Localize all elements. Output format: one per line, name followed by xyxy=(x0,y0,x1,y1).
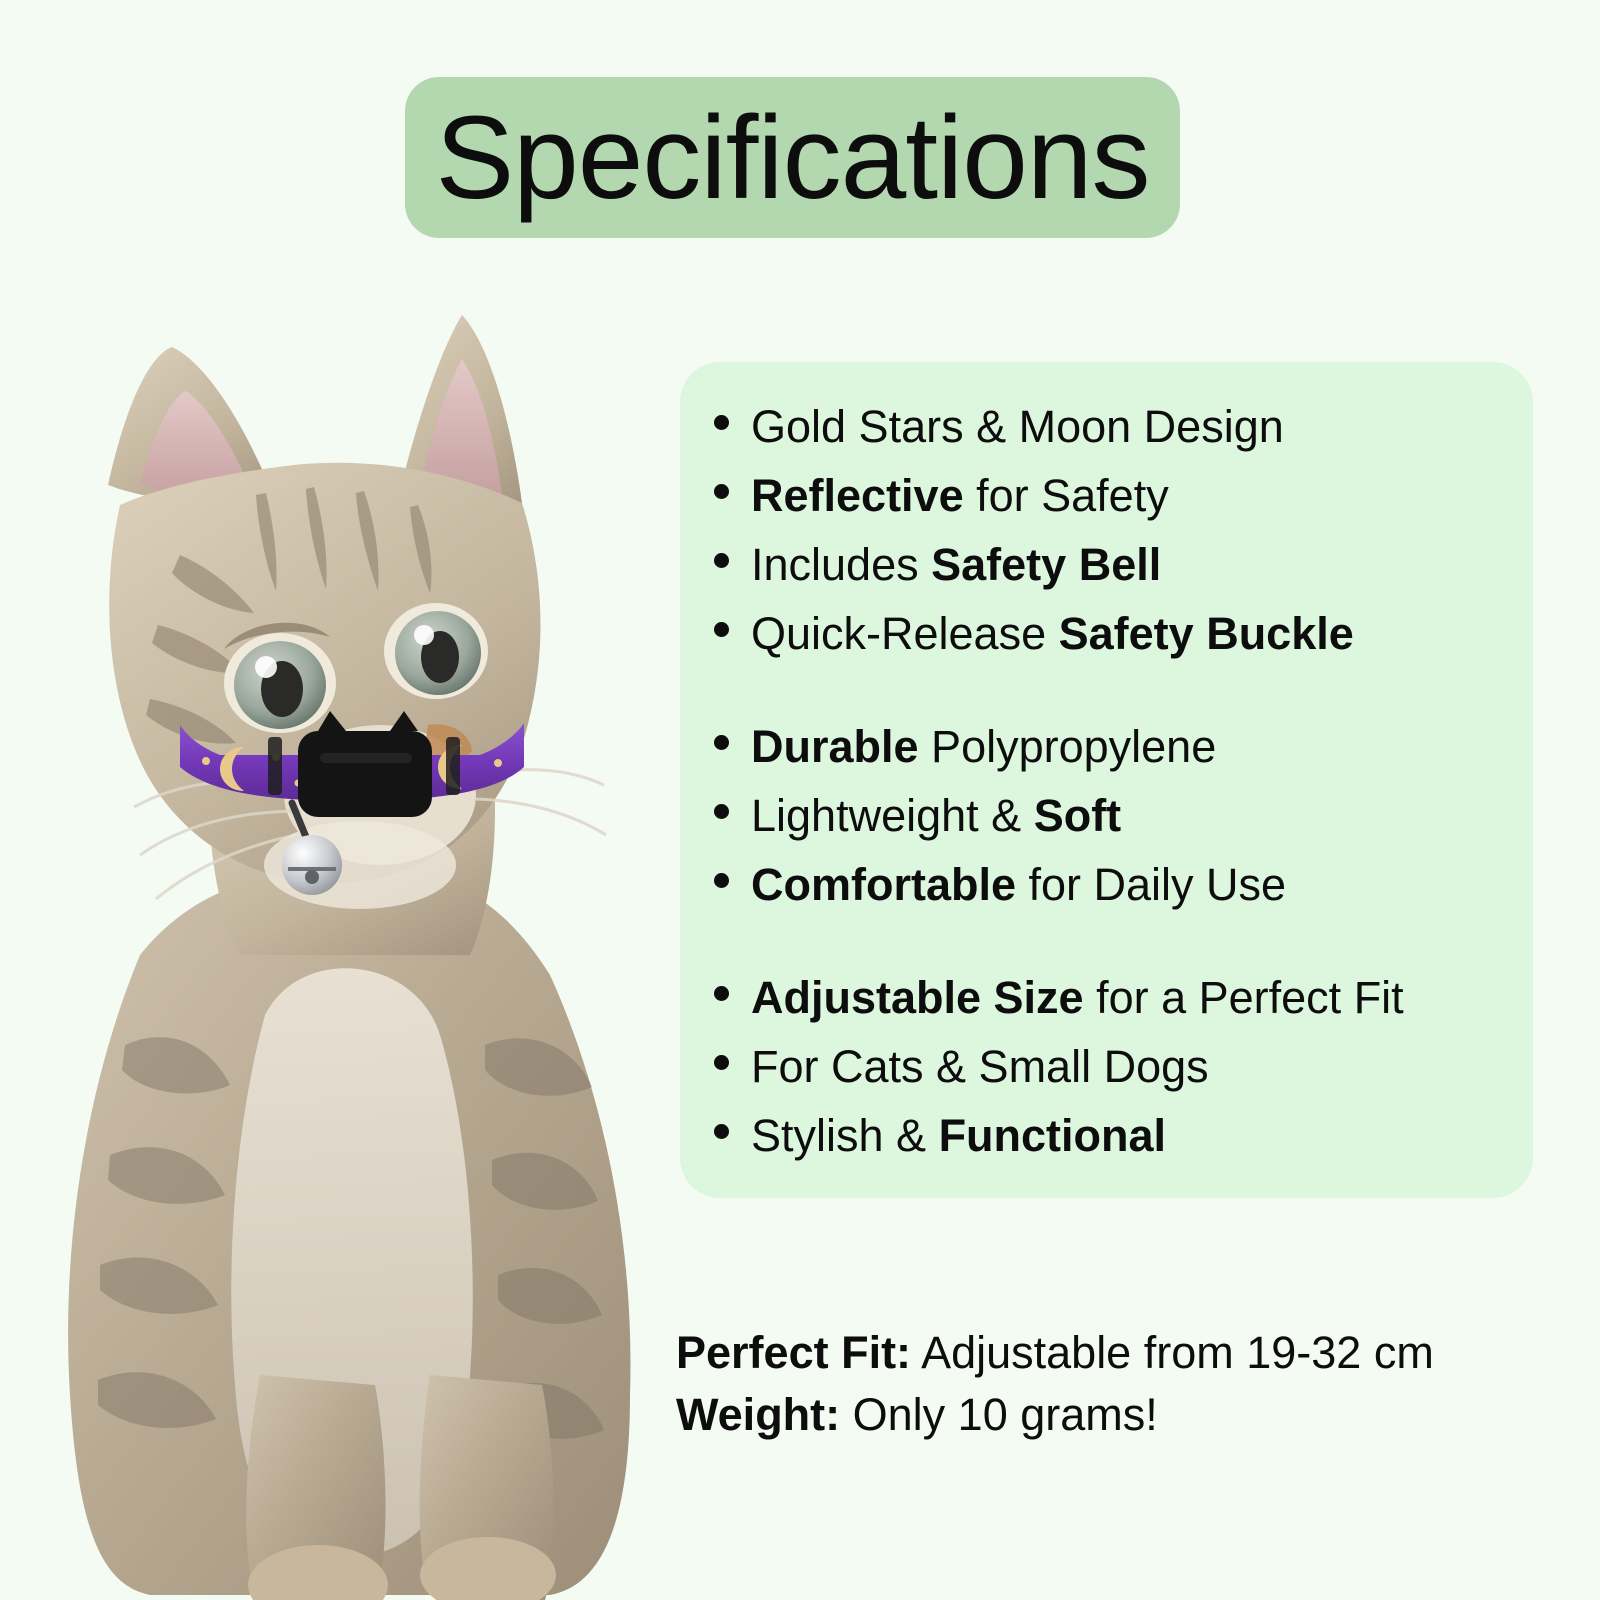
spec-text: Durable Polypropylene xyxy=(751,712,1216,781)
spec-text: Reflective for Safety xyxy=(751,461,1169,530)
cat-eye-right-highlight xyxy=(414,625,434,645)
spec-bullet-item: Comfortable for Daily Use xyxy=(714,850,1505,919)
bullet-dot-icon xyxy=(714,1055,729,1070)
emphasis-text: Safety Bell xyxy=(931,539,1161,590)
spec-bullet-item: Durable Polypropylene xyxy=(714,712,1505,781)
emphasis-text: Weight: xyxy=(676,1389,840,1440)
page-title: Specifications xyxy=(435,99,1149,217)
bullet-dot-icon xyxy=(714,415,729,430)
specifications-card: Gold Stars & Moon DesignReflective for S… xyxy=(680,362,1533,1198)
spec-text: Quick-Release Safety Buckle xyxy=(751,599,1354,668)
bullet-dot-icon xyxy=(714,1124,729,1139)
collar-star-6 xyxy=(494,759,502,767)
bullet-dot-icon xyxy=(714,804,729,819)
emphasis-text: Reflective xyxy=(751,470,964,521)
emphasis-text: Soft xyxy=(1034,790,1121,841)
bell-hole xyxy=(305,870,319,884)
spec-text: Perfect Fit: Adjustable from 19-32 cm xyxy=(676,1327,1434,1378)
spec-text: Includes Safety Bell xyxy=(751,530,1161,599)
collar-adjuster-right xyxy=(446,737,460,795)
spec-bullet-item: Stylish & Functional xyxy=(714,1101,1505,1170)
spec-bullet-item: For Cats & Small Dogs xyxy=(714,1032,1505,1101)
plain-text: For Cats & Small Dogs xyxy=(751,1041,1209,1092)
cat-eye-left-highlight xyxy=(255,656,277,678)
spec-text: For Cats & Small Dogs xyxy=(751,1032,1209,1101)
plain-text: Gold Stars & Moon Design xyxy=(751,401,1284,452)
spec-bullet-item: Lightweight & Soft xyxy=(714,781,1505,850)
spec-bullet-item: Includes Safety Bell xyxy=(714,530,1505,599)
spec-text: Weight: Only 10 grams! xyxy=(676,1389,1158,1440)
spec-group-design: Gold Stars & Moon DesignReflective for S… xyxy=(714,392,1505,668)
specifications-title-banner: Specifications xyxy=(405,77,1180,238)
spec-text: Comfortable for Daily Use xyxy=(751,850,1286,919)
plain-text: for a Perfect Fit xyxy=(1084,972,1404,1023)
plain-text: Only 10 grams! xyxy=(840,1389,1158,1440)
spec-group-fit: Adjustable Size for a Perfect FitFor Cat… xyxy=(714,963,1505,1170)
spec-bullet-item: Gold Stars & Moon Design xyxy=(714,392,1505,461)
bullet-dot-icon xyxy=(714,622,729,637)
spec-text: Stylish & Functional xyxy=(751,1101,1166,1170)
collar-quick-release-buckle xyxy=(298,731,432,817)
buckle-groove xyxy=(320,753,412,763)
plain-text: Adjustable from 19-32 cm xyxy=(911,1327,1434,1378)
spec-text: Adjustable Size for a Perfect Fit xyxy=(751,963,1404,1032)
emphasis-text: Durable xyxy=(751,721,919,772)
plain-text: Polypropylene xyxy=(919,721,1217,772)
plain-text: Quick-Release xyxy=(751,608,1059,659)
product-photo-kitten-with-collar xyxy=(30,255,670,1600)
plain-text: Includes xyxy=(751,539,931,590)
bullet-dot-icon xyxy=(714,735,729,750)
plain-text: Stylish & xyxy=(751,1110,939,1161)
collar-adjuster-left xyxy=(268,737,282,795)
collar-star-1 xyxy=(202,757,210,765)
footer-measurements: Perfect Fit: Adjustable from 19-32 cmWei… xyxy=(676,1322,1536,1446)
spec-group-material: Durable PolypropyleneLightweight & SoftC… xyxy=(714,712,1505,919)
plain-text: for Safety xyxy=(964,470,1169,521)
spec-bullet-item: Quick-Release Safety Buckle xyxy=(714,599,1505,668)
spec-bullet-item: Adjustable Size for a Perfect Fit xyxy=(714,963,1505,1032)
bullet-dot-icon xyxy=(714,484,729,499)
bullet-dot-icon xyxy=(714,873,729,888)
spec-text: Lightweight & Soft xyxy=(751,781,1121,850)
emphasis-text: Safety Buckle xyxy=(1059,608,1354,659)
bullet-dot-icon xyxy=(714,986,729,1001)
plain-text: for Daily Use xyxy=(1016,859,1286,910)
emphasis-text: Comfortable xyxy=(751,859,1016,910)
kitten-illustration xyxy=(30,255,670,1600)
bullet-dot-icon xyxy=(714,553,729,568)
spec-bullet-item: Reflective for Safety xyxy=(714,461,1505,530)
plain-text: Lightweight & xyxy=(751,790,1034,841)
spec-text: Gold Stars & Moon Design xyxy=(751,392,1284,461)
footer-spec-line: Perfect Fit: Adjustable from 19-32 cm xyxy=(676,1322,1536,1384)
safety-bell xyxy=(282,835,342,895)
emphasis-text: Perfect Fit: xyxy=(676,1327,911,1378)
footer-spec-line: Weight: Only 10 grams! xyxy=(676,1384,1536,1446)
emphasis-text: Functional xyxy=(939,1110,1166,1161)
emphasis-text: Adjustable Size xyxy=(751,972,1084,1023)
